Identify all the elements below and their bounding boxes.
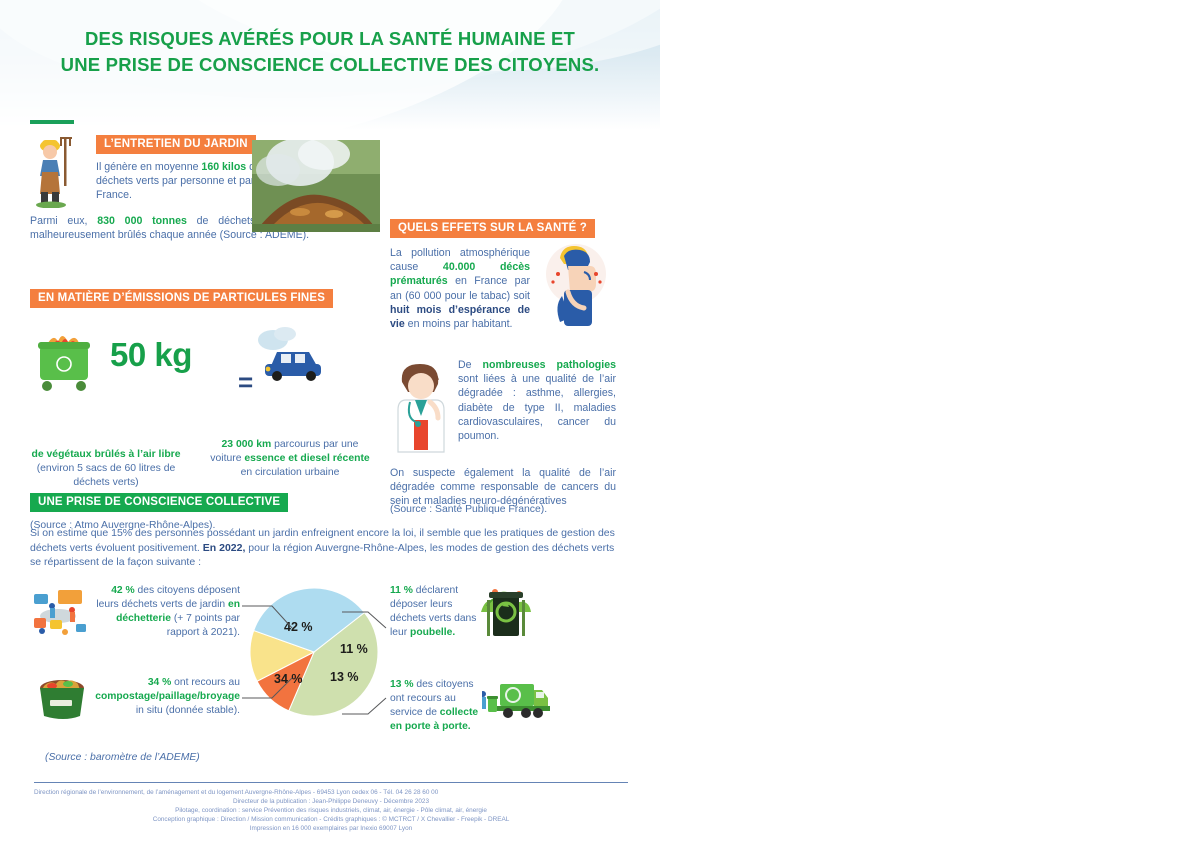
infographic-page: DES RISQUES AVÉRÉS POUR LA SANTÉ HUMAINE… — [0, 0, 1200, 848]
sante-section-tag: QUELS EFFETS SUR LA SANTÉ ? — [390, 219, 595, 238]
dechetterie-icon — [32, 584, 90, 642]
sante-p2-c: sont liées à une qualité de l’air dégrad… — [458, 373, 616, 442]
kg-value: 50 kg — [110, 336, 192, 374]
burning-waste-bin-icon — [32, 330, 96, 396]
particules-section-tag: EN MATIÈRE D’ÉMISSIONS DE PARTICULES FIN… — [30, 289, 333, 308]
particules-right-text-2: en circulation urbaine — [241, 467, 340, 478]
jardin-p1-highlight: 160 kilos — [201, 161, 246, 173]
jardin-p1-pre: Il génère en moyenne — [96, 161, 201, 173]
pie-label-42: 42 % — [284, 620, 313, 634]
prise-intro-paragraph: Si on estime que 15% des personnes possé… — [30, 526, 628, 570]
pie-chart: 42 % 11 % 13 % 34 % — [248, 586, 380, 718]
footer-line-1: Direction régionale de l’environnement, … — [34, 788, 628, 797]
coughing-person-icon — [538, 240, 610, 332]
sante-paragraph-1: La pollution atmosphérique cause 40.000 … — [390, 246, 530, 331]
section-particules-fines: EN MATIÈRE D’ÉMISSIONS DE PARTICULES FIN… — [30, 288, 380, 402]
waste-management-pie-chart-block: 42 % des citoyens déposent leurs déchets… — [20, 578, 640, 758]
footer-line-3: Pilotage, coordination : service Prévent… — [34, 806, 628, 815]
callout-34-percent: 34 % ont recours au compostage/paillage/… — [92, 676, 240, 718]
pie-label-11: 11 % — [340, 642, 368, 656]
sante-pathologies-highlight: nombreuses pathologies — [483, 359, 616, 371]
left-content-panel: DES RISQUES AVÉRÉS POUR LA SANTÉ HUMAINE… — [0, 0, 660, 848]
particules-right-caption: 23 000 km parcourus par une voiture esse… — [210, 438, 370, 480]
particules-left-caption-bold: de végétaux brûlés à l’air libre — [32, 449, 181, 460]
burning-pile-illustration — [252, 140, 380, 232]
car-icon — [255, 324, 327, 382]
jardin-p2-highlight: 830 000 tonnes — [97, 215, 187, 227]
callout-42-percent: 42 % des citoyens déposent leurs déchets… — [92, 584, 240, 640]
callout-13-percent: 13 % des citoyens ont recours au service… — [390, 678, 490, 734]
particules-equivalence-row: 50 kg = — [30, 330, 380, 402]
pie-label-34: 34 % — [274, 672, 303, 686]
callout-34-bold2: compostage/paillage/broyage — [95, 691, 240, 702]
footer-line-5: Impression en 16 000 exemplaires par Ine… — [34, 824, 628, 833]
particules-left-caption-rest: (environ 5 sacs de 60 litres de déchets … — [37, 463, 176, 488]
footer-divider — [34, 782, 628, 783]
burning-green-waste-photo — [252, 140, 380, 232]
footer-line-2: Directeur de la publication : Jean-Phili… — [34, 797, 628, 806]
compost-bin-icon — [34, 674, 90, 722]
sante-paragraph-2: De nombreuses pathologies sont liées à u… — [458, 358, 616, 443]
doctor-icon — [390, 358, 452, 454]
gardener-icon — [30, 136, 86, 208]
equals-sign: = — [238, 374, 253, 390]
callout-13-value: 13 % — [390, 679, 413, 690]
section-divider-rule — [30, 120, 74, 124]
page-title-line1: DES RISQUES AVÉRÉS POUR LA SANTÉ HUMAINE… — [85, 28, 575, 49]
jardin-section-tag: L’ENTRETIEN DU JARDIN — [96, 135, 256, 154]
section-effets-sante: QUELS EFFETS SUR LA SANTÉ ? La pollution… — [390, 218, 615, 476]
right-poster-panel: PRÉFÈTE DE LA RÉGION AUVERGNE- RHÔNE-ALP… — [660, 0, 1200, 848]
callout-11-bold2: poubelle. — [410, 627, 455, 638]
callout-34-text2: in situ (donnée stable). — [136, 705, 240, 716]
prise-intro-year: En 2022, — [203, 542, 246, 554]
jardin-p2-pre: Parmi eux, — [30, 215, 97, 227]
sante-p1-e: en moins par habitant. — [405, 318, 513, 330]
particules-left-caption: de végétaux brûlés à l’air libre (enviro… — [30, 448, 182, 490]
sante-p2-a: De — [458, 359, 483, 371]
callout-34-text: ont recours au — [171, 677, 240, 688]
callout-42-value: 42 % — [111, 585, 134, 596]
particules-km-value: 23 000 km — [222, 439, 272, 450]
footer-credits: Direction régionale de l’environnement, … — [34, 788, 628, 833]
callout-11-value: 11 % — [390, 585, 413, 596]
page-title: DES RISQUES AVÉRÉS POUR LA SANTÉ HUMAINE… — [0, 26, 660, 78]
prise-section-tag: UNE PRISE DE CONSCIENCE COLLECTIVE — [30, 493, 288, 512]
page-title-line2: UNE PRISE DE CONSCIENCE COLLECTIVE DES C… — [0, 52, 660, 78]
footer-line-4: Conception graphique : Direction / Missi… — [34, 815, 628, 824]
jardin-section-tag-wrap: L’ENTRETIEN DU JARDIN — [96, 134, 256, 154]
prise-source: (Source : baromètre de l’ADEME) — [45, 752, 200, 763]
garbage-truck-icon — [482, 676, 554, 720]
callout-42-text2: (+ 7 points par rapport à 2021). — [167, 613, 240, 638]
section-prise-conscience: UNE PRISE DE CONSCIENCE COLLECTIVE Si on… — [30, 492, 630, 570]
poubelle-recyclage-icon — [475, 578, 537, 640]
particules-right-bold-2: essence et diesel récente — [244, 453, 369, 464]
pie-label-13: 13 % — [330, 670, 359, 684]
callout-34-value: 34 % — [148, 677, 171, 688]
